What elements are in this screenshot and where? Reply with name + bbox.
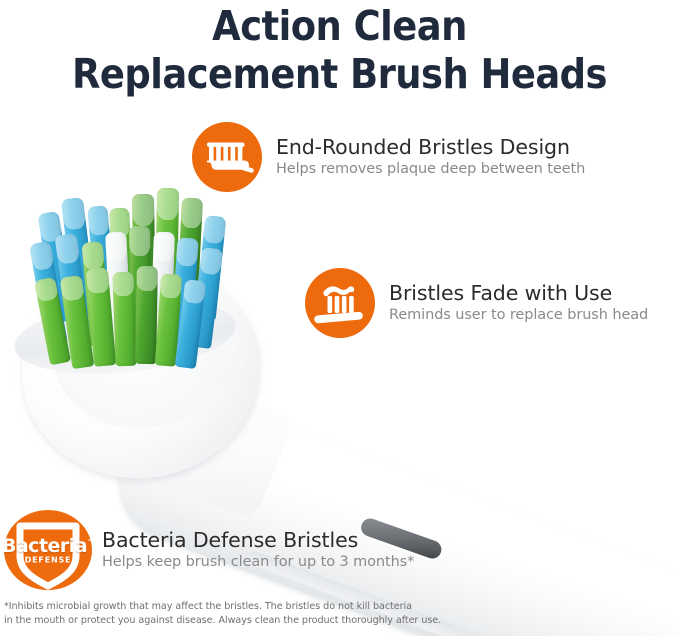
defense-word: DEFENSE: [25, 555, 72, 564]
callout-heading: Bacteria Defense Bristles: [102, 528, 414, 553]
callout-text-group: Bristles Fade with Use Reminds user to r…: [389, 281, 648, 325]
footnote-line-1: *Inhibits microbial growth that may affe…: [4, 600, 434, 614]
bacteria-word: Bacteria™: [4, 535, 92, 557]
callout-text-group: Bacteria Defense Bristles Helps keep bru…: [102, 528, 414, 572]
feature-callout-end-rounded-bristles: End-Rounded Bristles Design Helps remove…: [192, 122, 585, 192]
feature-callout-bristles-fade: Bristles Fade with Use Reminds user to r…: [305, 268, 648, 338]
title-line-2: Replacement Brush Heads: [34, 50, 645, 99]
footnote-disclaimer: *Inhibits microbial growth that may affe…: [4, 600, 434, 627]
callout-text-group: End-Rounded Bristles Design Helps remove…: [276, 135, 585, 179]
title-line-1: Action Clean: [34, 2, 645, 50]
toothbrush-even-bristles-icon: [192, 122, 262, 192]
callout-subtext: Reminds user to replace brush head: [389, 306, 648, 325]
footnote-line-2: in the mouth or protect you against dise…: [4, 614, 434, 628]
feature-callout-bacteria-defense: Bacteria™ DEFENSE Bacteria Defense Brist…: [4, 510, 414, 590]
bristle-tuft: [112, 272, 136, 367]
trademark-symbol: ™: [87, 539, 92, 547]
bacteria-defense-shield-icon: Bacteria™ DEFENSE: [4, 510, 92, 590]
callout-subtext: Helps keep brush clean for up to 3 month…: [102, 553, 414, 572]
callout-subtext: Helps removes plaque deep between teeth: [276, 160, 585, 179]
page-title: Action Clean Replacement Brush Heads: [0, 2, 679, 99]
product-feature-graphic: Action Clean Replacement Brush Heads: [0, 0, 679, 636]
toothbrush-with-toothpaste-icon: [305, 268, 375, 338]
callout-heading: End-Rounded Bristles Design: [276, 135, 585, 160]
callout-heading: Bristles Fade with Use: [389, 281, 648, 306]
bristle-tuft: [135, 266, 158, 364]
bacteria-badge-text: Bacteria™ DEFENSE: [4, 510, 92, 590]
